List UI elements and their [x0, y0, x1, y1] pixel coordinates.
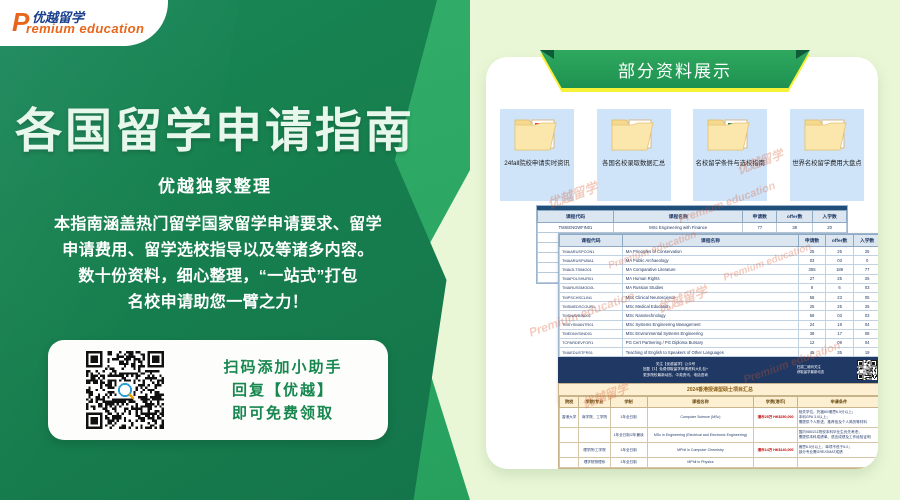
- cell-course: MPhil in Physics: [647, 458, 754, 468]
- table-row: 理学院/工学院1年全日制MPhil in Computer Chemistry港…: [560, 443, 879, 458]
- column-header: 入学数: [813, 211, 847, 223]
- cell-code: TMAARUSPUBA1: [560, 256, 623, 265]
- table-row: TMSNAVBIN001MSc Nanotechnology580303: [560, 311, 879, 320]
- table-row: TMAARUSPCON1MA Principles of Conservatio…: [560, 247, 879, 256]
- table-header-row: 课程代码课程名称申请数offer数入学数: [538, 211, 847, 223]
- cell-apply: 12: [799, 338, 826, 347]
- cell-code: TMSYSMANTR01: [560, 320, 623, 329]
- cell-name: MSc Clinical Neuroscience: [622, 292, 798, 301]
- cell-name: MA Human Rights: [622, 274, 798, 283]
- hero-description-line: 名校申请助您一臂之力！: [8, 290, 428, 316]
- cell-enrol: 05: [854, 292, 878, 301]
- column-header: offer数: [777, 211, 813, 223]
- cell-course: MPhil in Computer Chemistry: [647, 443, 754, 458]
- cell-name: MA Comparative Literature: [622, 265, 798, 274]
- cell-faculty: 理学院物理系: [579, 458, 610, 468]
- promo-navy-band: 关注【优越留学】公众号回复【1】免费领取留学申请资料大礼包+更多院校最新动态、中…: [558, 357, 878, 383]
- column-header: 申请条件: [797, 397, 878, 408]
- cell-code: TMSNAVBIN001: [560, 311, 623, 320]
- cell-name: MSc Systems Engineering Management: [622, 320, 798, 329]
- column-header: 申请数: [799, 235, 826, 247]
- cell-enrol: 04: [854, 338, 878, 347]
- cell-fee: [754, 458, 797, 468]
- column-header: 课程名称: [647, 397, 754, 408]
- cell-duration: 1年全日制: [610, 458, 647, 468]
- qr-cta-text: 扫码添加小助手回复【优越】即可免费领取: [188, 356, 378, 425]
- cell-school: [560, 458, 579, 468]
- column-header: 院校: [560, 397, 579, 408]
- folder-item-1[interactable]: P24fall院校申请实时资讯: [500, 109, 574, 201]
- column-header: 申请数: [743, 211, 777, 223]
- cell-faculty: 商学院、工学院: [579, 408, 610, 428]
- qr-cta-line: 扫码添加小助手: [188, 356, 378, 379]
- cell-code: TMPSCHSCLIN1: [560, 292, 623, 301]
- cell-offer: 17: [825, 329, 853, 338]
- column-header: 入学数: [854, 235, 878, 247]
- table-row: TMEDNVSIND01MSc Environmental Systems En…: [560, 329, 879, 338]
- cell-apply: 56: [799, 292, 826, 301]
- cell-name: MSc Nanotechnology: [622, 311, 798, 320]
- cell-school: [560, 428, 579, 443]
- cell-apply: 355: [799, 265, 826, 274]
- folder-icon: [609, 114, 659, 156]
- cell-fee: [754, 428, 797, 443]
- table-header-row: 课程代码课程名称申请数offer数入学数: [560, 235, 879, 247]
- hero-description: 本指南涵盖热门留学国家留学申请要求、留学申请费用、留学选校指导以及等诸多内容。数…: [8, 212, 428, 316]
- table-row: 1年全日制/2年兼读MSc in Engineering (Electrical…: [560, 428, 879, 443]
- page-subtitle: 优越独家整理: [0, 172, 430, 197]
- cell-apply: 25: [799, 302, 826, 311]
- hk-masters-table: 2024香港授课型硕士项目汇总 院校学院/专业学制课程名称学费(港币)申请条件香…: [558, 383, 878, 469]
- hero-description-line: 本指南涵盖热门留学国家留学申请要求、留学: [8, 212, 428, 238]
- folder-label: 世界名校留学费用大盘点: [792, 159, 862, 168]
- column-header: 学费(港币): [754, 397, 797, 408]
- cell-code: TMAOLTSIMO01: [560, 265, 623, 274]
- hero-description-line: 数十份资料，细心整理，“一站式”打包: [8, 264, 428, 290]
- cell-enrol: 25: [854, 274, 878, 283]
- section-banner: 部分资料展示: [540, 50, 810, 90]
- column-header: 课程代码: [538, 211, 614, 223]
- cell-duration: 1年全日制/2年兼读: [610, 428, 647, 443]
- table-row: TCPARDEVFOR1PG Cert Partnering / PG Dipl…: [560, 338, 879, 347]
- cell-offer: 03: [825, 311, 853, 320]
- table-row: TMSMEDSCOUR1MSc Medical Education252525: [560, 302, 879, 311]
- promo-navy-text: 关注【优越留学】公众号回复【1】免费领取留学申请资料大礼包+更多院校最新动态、中…: [558, 362, 793, 378]
- cell-code: TMARUSSMOD0L: [560, 283, 623, 292]
- table-row: TMSIENGWFIN01MSc Engineering with Financ…: [538, 223, 847, 233]
- cell-name: MA Public Archaeology: [622, 256, 798, 265]
- cell-enrol: 03: [854, 283, 878, 292]
- column-header: 课程名称: [622, 235, 798, 247]
- left-hero-panel: P 优越留学 remium education 各国留学申请指南 优越独家整理 …: [0, 0, 470, 500]
- cell-name: MA Russian Studies: [622, 283, 798, 292]
- column-header: 学制: [610, 397, 647, 408]
- cell-name: MA Principles of Conservation: [622, 247, 798, 256]
- logo-english-name: remium education: [26, 21, 144, 36]
- cell-offer: 09: [825, 338, 853, 347]
- cell-offer: 23: [825, 292, 853, 301]
- qr-cta-card[interactable]: 扫码添加小助手回复【优越】即可免费领取: [48, 340, 388, 440]
- table-row: 香港大学商学院、工学院1年全日制Computer Science (MSc)港币…: [560, 408, 879, 428]
- cell-offer: 35: [825, 348, 853, 357]
- promo-navy-side-line: 获取留学最新动态: [797, 370, 857, 375]
- cell-apply: 03: [799, 256, 826, 265]
- cell-course: MSc in Engineering (Electrical and Elect…: [647, 428, 754, 443]
- cell-faculty: [579, 428, 610, 443]
- promo-navy-qr-icon: [857, 360, 877, 380]
- cell-offer: 25: [825, 274, 853, 283]
- cell-course: Computer Science (MSc): [647, 408, 754, 428]
- cell-code: TMAEDUSTFR01: [560, 348, 623, 357]
- cell-code: TMAARUSPCON1: [560, 247, 623, 256]
- cell-name: MSc Medical Education: [622, 302, 798, 311]
- folder-item-2[interactable]: 各国名校录取数据汇总: [597, 109, 671, 201]
- table-row: TMSYSMANTR01MSc Systems Engineering Mana…: [560, 320, 879, 329]
- cell-name: Teaching of English to Speakers of Other…: [622, 348, 798, 357]
- table-row: TMPSCHSCLIN1MSc Clinical Neuroscience562…: [560, 292, 879, 301]
- folder-item-3[interactable]: S名校留学条件与选校指南: [693, 109, 767, 201]
- cell-enrol: 08: [854, 329, 878, 338]
- qr-cta-line: 回复【优越】: [188, 379, 378, 402]
- folder-item-4[interactable]: 世界名校留学费用大盘点: [790, 109, 864, 201]
- cell-duration: 1年全日制: [610, 443, 647, 458]
- table-header-row: 院校学院/专业学制课程名称学费(港币)申请条件: [560, 397, 879, 408]
- folder-icon: P: [512, 114, 562, 156]
- cell-code: TMEDNVSIND01: [560, 329, 623, 338]
- page-title: 各国留学申请指南: [0, 92, 430, 161]
- cell-requirement: [797, 458, 878, 468]
- cell-name: MSc Engineering with Finance: [613, 223, 742, 233]
- table-row: TMAARUSPUBA1MA Public Archaeology03030: [560, 256, 879, 265]
- cell-enrol: 77: [854, 265, 878, 274]
- cell-enrol: 20: [813, 223, 847, 233]
- table-row: TMAEDUSTFR01Teaching of English to Speak…: [560, 348, 879, 357]
- materials-preview-card: P24fall院校申请实时资讯各国名校录取数据汇总S名校留学条件与选校指南世界名…: [486, 57, 878, 469]
- hk-masters-table-title: 2024香港授课型硕士项目汇总: [559, 384, 878, 396]
- cell-school: [560, 443, 579, 458]
- cell-requirement: 国内985/211院校本科毕业生优先考虑；需提供本科成绩单、语言成绩及工作经验证…: [797, 428, 878, 443]
- cell-offer: 18: [825, 320, 853, 329]
- cell-offer: 25: [825, 302, 853, 311]
- table-row: TMAPOLSHUR01MA Human Rights272525: [560, 274, 879, 283]
- table-row: 理学院物理系1年全日制MPhil in Physics: [560, 458, 879, 468]
- folder-icon: [802, 114, 852, 156]
- cell-code: TMSMEDSCOUR1: [560, 302, 623, 311]
- cell-apply: 38: [799, 329, 826, 338]
- folder-label: 各国名校录取数据汇总: [599, 159, 669, 168]
- cell-offer: 25: [825, 247, 853, 256]
- qr-cta-line: 即可免费领取: [188, 402, 378, 425]
- column-header: offer数: [825, 235, 853, 247]
- folder-grid: P24fall院校申请实时资讯各国名校录取数据汇总S名校留学条件与选校指南世界名…: [500, 109, 864, 201]
- cell-fee: 港币25万 HK$250,000: [754, 408, 797, 428]
- cell-enrol: 25: [854, 302, 878, 311]
- cell-apply: 24: [799, 320, 826, 329]
- cell-school: 香港大学: [560, 408, 579, 428]
- cell-offer: 38: [777, 223, 813, 233]
- cell-enrol: 0: [854, 256, 878, 265]
- folder-label: 名校留学条件与选校指南: [695, 159, 765, 168]
- cell-enrol: 03: [854, 311, 878, 320]
- cell-fee: 港币14万 HK$140,000: [754, 443, 797, 458]
- cell-apply: 6: [799, 283, 826, 292]
- cell-name: PG Cert Partnering / PG Diploma Bursary: [622, 338, 798, 347]
- cell-apply: 27: [799, 274, 826, 283]
- table-row: TMAOLTSIMO01MA Comparative Literature355…: [560, 265, 879, 274]
- cell-enrol: 25: [854, 247, 878, 256]
- qr-code-image: [86, 351, 164, 429]
- cell-name: MSc Environmental Systems Engineering: [622, 329, 798, 338]
- promo-navy-side-text: 扫描二维码关注获取留学最新动态: [793, 365, 857, 375]
- cell-apply: 58: [799, 311, 826, 320]
- table-row: TMARUSSMOD0LMA Russian Studies6603: [560, 283, 879, 292]
- cell-code: TMSIENGWFIN01: [538, 223, 614, 233]
- brand-logo: P 优越留学 remium education: [0, 0, 168, 46]
- cell-requirement: 雅思6.5分以上，单项不低于6.0；部分专业需GRE/GMAT成绩: [797, 443, 878, 458]
- cell-offer: 03: [825, 256, 853, 265]
- cell-requirement: 相关学位，托福80/雅思6.5分以上；本科GPA 3.0以上；需提供个人陈述、推…: [797, 408, 878, 428]
- cell-faculty: 理学院/工学院: [579, 443, 610, 458]
- hero-description-line: 申请费用、留学选校指导以及等诸多内容。: [8, 238, 428, 264]
- cell-apply: 77: [743, 223, 777, 233]
- folder-label: 24fall院校申请实时资讯: [502, 159, 572, 168]
- cell-code: TMAPOLSHUR01: [560, 274, 623, 283]
- promo-navy-line: 更多院校最新动态、中英资讯、电话咨询: [558, 373, 793, 378]
- cell-enrol: 04: [854, 320, 878, 329]
- cell-duration: 1年全日制: [610, 408, 647, 428]
- cell-enrol: 19: [854, 348, 878, 357]
- column-header: 学院/专业: [579, 397, 610, 408]
- cell-code: TCPARDEVFOR1: [560, 338, 623, 347]
- column-header: 课程名称: [613, 211, 742, 223]
- cell-offer: 189: [825, 265, 853, 274]
- banner-title: 部分资料展示: [540, 50, 810, 88]
- cell-offer: 6: [825, 283, 853, 292]
- cell-apply: 25: [799, 247, 826, 256]
- cell-apply: 45: [799, 348, 826, 357]
- folder-icon: S: [705, 114, 755, 156]
- column-header: 课程代码: [560, 235, 623, 247]
- spreadsheet-preview-stack: 课程代码课程名称申请数offer数入学数TMSIENGWFIN01MSc Eng…: [492, 205, 872, 463]
